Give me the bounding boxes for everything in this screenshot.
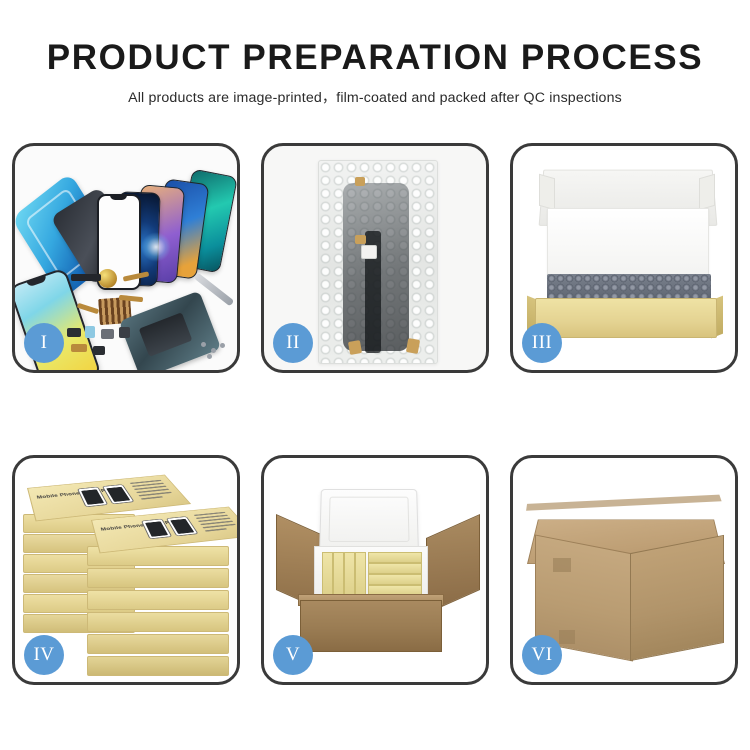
process-step-panel-6: VI bbox=[510, 455, 738, 685]
box-lid-text-lines bbox=[130, 479, 181, 501]
small-part bbox=[85, 326, 95, 338]
inner-yellow-box bbox=[355, 552, 366, 598]
page-subtitle: All products are image-printed，film-coat… bbox=[0, 87, 750, 107]
step-badge-6: VI bbox=[522, 635, 562, 675]
process-step-panel-5: V bbox=[261, 455, 489, 685]
stacked-box bbox=[87, 612, 229, 632]
screw bbox=[220, 343, 225, 348]
step-badge-4: IV bbox=[24, 635, 64, 675]
inner-yellow-box bbox=[322, 552, 333, 598]
lid-text-line bbox=[138, 492, 171, 496]
connector-patch bbox=[361, 245, 377, 259]
crack-highlight bbox=[141, 232, 171, 262]
process-step-panel-1: I bbox=[12, 143, 240, 373]
process-step-panel-2: II bbox=[261, 143, 489, 373]
box-lid-flap-right bbox=[699, 174, 715, 211]
product-preparation-process-page: PRODUCT PREPARATION PROCESS All products… bbox=[0, 0, 750, 750]
carton-seam-tape bbox=[526, 495, 722, 511]
process-step-panel-3: III bbox=[510, 143, 738, 373]
inner-yellow-box bbox=[344, 552, 355, 598]
lid-text-line bbox=[205, 528, 227, 531]
screw bbox=[207, 354, 212, 359]
stacked-box bbox=[87, 568, 229, 588]
styrofoam-lid bbox=[319, 489, 419, 552]
step-badge-5: V bbox=[273, 635, 313, 675]
small-part bbox=[67, 328, 81, 337]
small-part bbox=[93, 346, 105, 355]
step-badge-2: II bbox=[273, 323, 313, 363]
inner-yellow-box bbox=[368, 563, 422, 574]
small-part bbox=[71, 344, 87, 352]
carton-label-patch-lower bbox=[559, 630, 575, 644]
box-lid-product-images bbox=[141, 516, 199, 539]
box-lid-flap-left bbox=[539, 174, 555, 211]
lid-text-line bbox=[141, 496, 163, 499]
carton-right-face bbox=[630, 535, 724, 661]
tape-tab-bottom-left bbox=[348, 340, 362, 355]
stacked-box bbox=[87, 634, 229, 654]
small-part bbox=[119, 327, 130, 338]
box-lid-text-lines bbox=[194, 511, 237, 533]
inner-yellow-box bbox=[368, 552, 422, 563]
inner-yellow-box bbox=[368, 574, 422, 585]
carton-label-patch-upper bbox=[553, 558, 571, 572]
screw bbox=[211, 348, 216, 353]
small-parts-cluster bbox=[65, 324, 135, 364]
tape-tab-top bbox=[355, 177, 365, 186]
stacked-box bbox=[87, 656, 229, 676]
process-step-panel-4: Mobile Phone Spare Parts bbox=[12, 455, 240, 685]
carton-front-panel bbox=[300, 600, 442, 652]
process-step-grid: I II bbox=[12, 143, 738, 685]
page-header: PRODUCT PREPARATION PROCESS All products… bbox=[0, 40, 750, 107]
screws-cluster bbox=[201, 342, 227, 360]
kraft-box-front bbox=[535, 298, 717, 338]
lid-text-line bbox=[202, 524, 235, 528]
box-lid-product-images bbox=[77, 484, 135, 507]
screw bbox=[201, 342, 206, 347]
small-part bbox=[101, 329, 114, 339]
white-foam-sheet bbox=[547, 208, 709, 278]
step-badge-1: I bbox=[24, 323, 64, 363]
step-badge-3: III bbox=[522, 323, 562, 363]
chip-component bbox=[71, 274, 101, 281]
page-title: PRODUCT PREPARATION PROCESS bbox=[0, 40, 750, 77]
stacked-box bbox=[87, 590, 229, 610]
bubble-wrap-bag bbox=[318, 160, 438, 364]
tape-tab-middle bbox=[355, 235, 366, 244]
inner-yellow-box bbox=[333, 552, 344, 598]
tape-tab-bottom-right bbox=[406, 338, 420, 354]
